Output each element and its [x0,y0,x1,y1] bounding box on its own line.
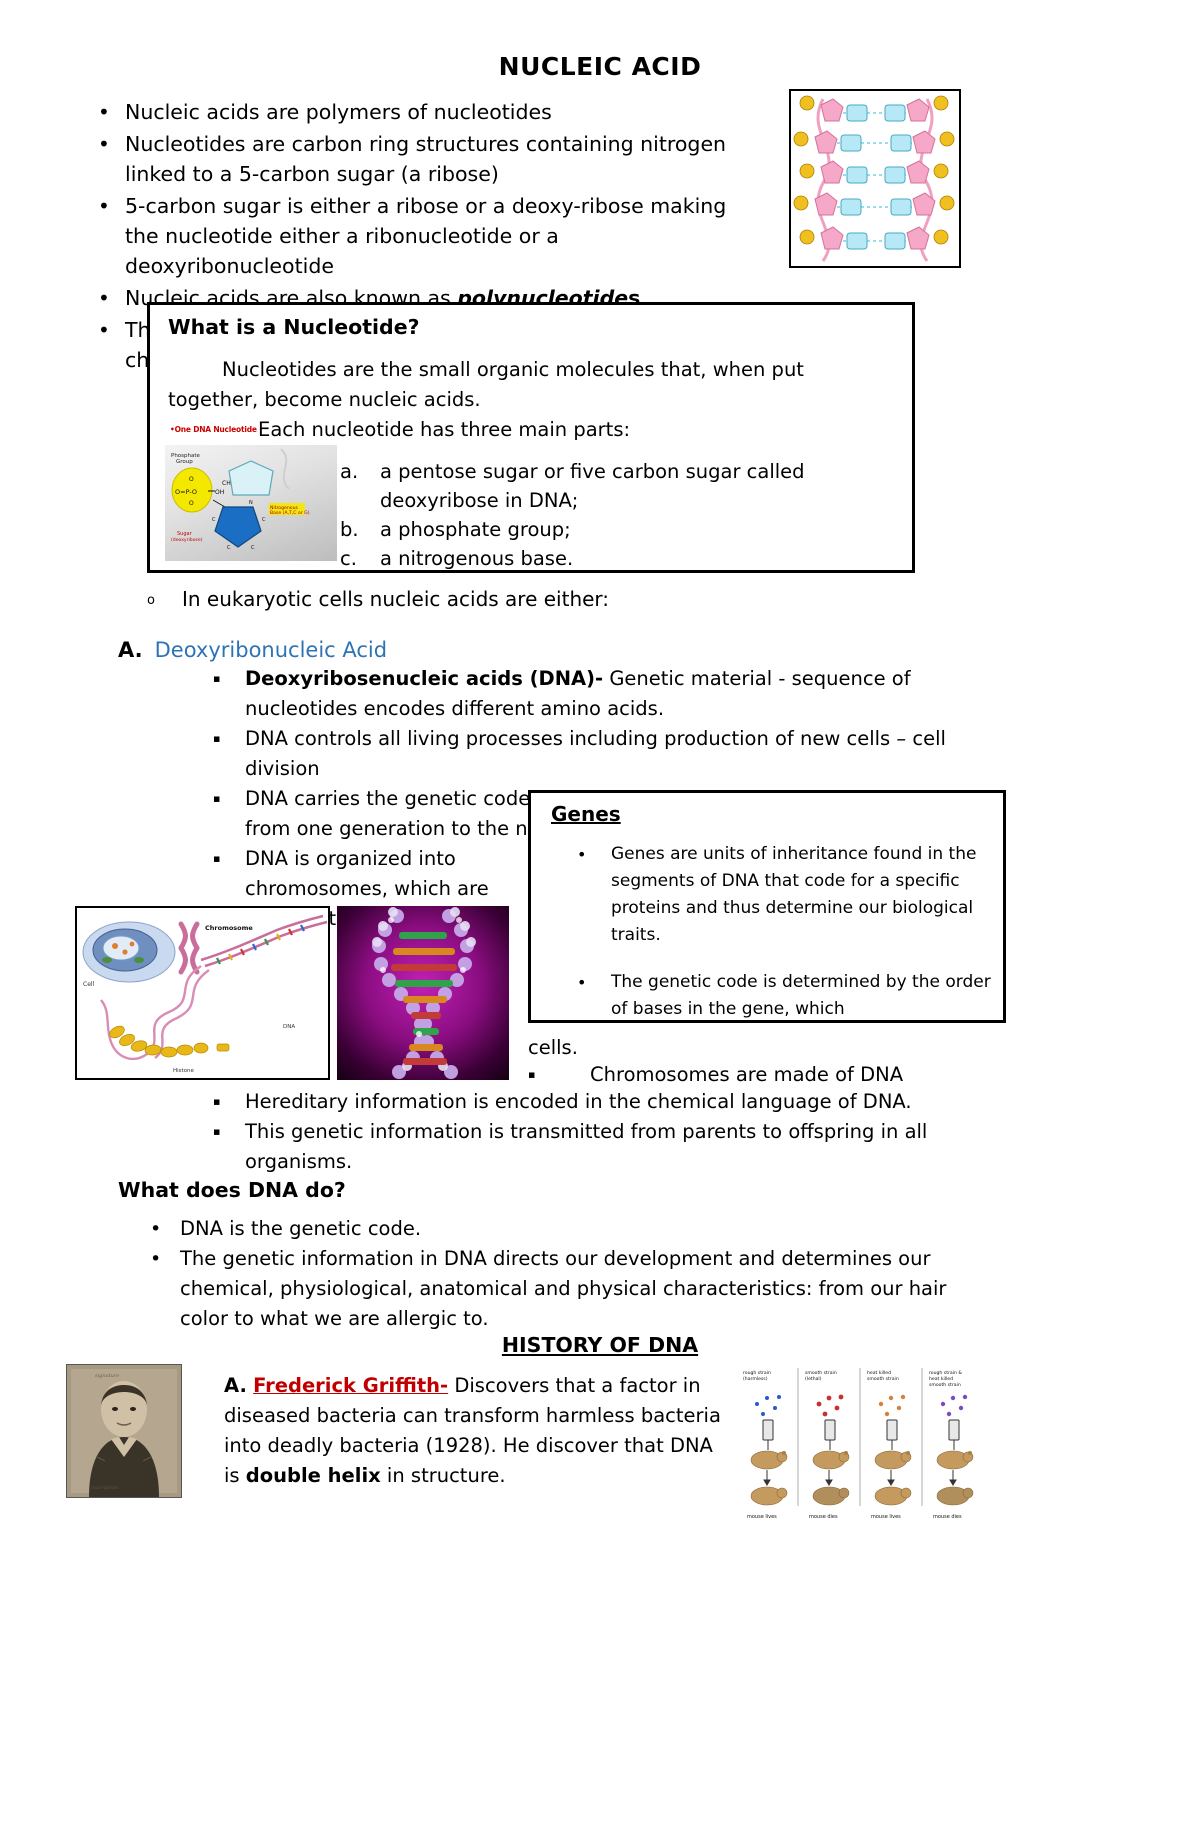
bullet-dot-icon: • [98,129,110,159]
nucleotide-paragraph-text: Nucleotides are the small organic molecu… [168,358,804,411]
svg-text:Cell: Cell [83,981,95,988]
square-bullet-icon: ▪ [528,1068,590,1081]
square-bullet-icon: ▪ [213,1117,220,1147]
nucleotide-box-title: What is a Nucleotide? [168,315,420,339]
svg-text:smooth strain: smooth strain [805,1370,837,1376]
svg-text:O: O [189,500,194,507]
dna-bullet-2: DNA controls all living processes includ… [245,727,946,780]
hereditary-bullet-2: This genetic information is transmitted … [245,1120,927,1173]
list-item: ▪ This genetic information is transmitte… [210,1117,1000,1177]
dna-ladder-svg [791,91,959,266]
what-does-dna-do-list: • DNA is the genetic code. • The genetic… [145,1214,975,1334]
square-bullet-icon: ▪ [213,844,220,874]
svg-text:C: C [262,517,266,523]
list-marker-b: b. [340,515,359,544]
eukaryotic-cells-text: In eukaryotic cells nucleic acids are ei… [182,587,609,611]
dna-bullet-1-bold: Deoxyribosenucleic acids (DNA)- [245,667,603,690]
svg-text:smooth strain: smooth strain [929,1382,961,1388]
nucleotide-part-a: a pentose sugar or five carbon sugar cal… [380,460,805,512]
bullet-dot-icon: • [150,1244,161,1274]
intro-bullet-2: Nucleotides are carbon ring structures c… [125,132,726,186]
svg-text:C: C [227,545,231,551]
svg-text:Chromosome: Chromosome [205,924,253,932]
frederick-griffith-portrait-image: signature inscription [66,1364,182,1498]
svg-text:rough strain: rough strain [743,1370,771,1376]
svg-text:signature: signature [95,1373,119,1379]
list-item: ▪ Hereditary information is encoded in t… [210,1087,1000,1117]
chromosome-diagram-image: Cell Chromosome [75,906,330,1080]
svg-text:C: C [251,545,255,551]
list-item: c. a nitrogenous base. [340,544,900,573]
svg-text:mouse lives: mouse lives [747,1514,777,1520]
svg-text:(deoxyribose): (deoxyribose) [171,537,203,543]
svg-text:N: N [249,500,253,506]
svg-text:O=P-O: O=P-O [175,488,197,496]
nucleotide-structure-image: Phosphate Group O O=P-O O OH CH2 O C C C… [165,445,337,561]
nucleotide-parts-list: a. a pentose sugar or five carbon sugar … [340,457,900,573]
chromosome-diagram-svg: Cell Chromosome [77,908,328,1078]
svg-text:C: C [212,517,216,523]
list-item: b. a phosphate group; [340,515,900,544]
hereditary-bullet-list: ▪ Hereditary information is encoded in t… [210,1087,1000,1177]
list-item: • The genetic information in DNA directs… [145,1244,975,1334]
griffith-portrait-svg: signature inscription [67,1365,181,1497]
cells-continuation-text: cells. [528,1036,578,1059]
history-of-dna-heading: HISTORY OF DNA [0,1333,1200,1357]
eukaryotic-cells-line: oIn eukaryotic cells nucleic acids are e… [147,587,609,611]
griffith-letter: A. [224,1374,247,1397]
nucleotide-definition-box: What is a Nucleotide? Nucleotides are th… [147,302,915,573]
section-a-letter: A. [118,638,143,662]
svg-text:inscription: inscription [91,1485,118,1491]
svg-text:(lethal): (lethal) [805,1376,822,1382]
list-item: • Nucleic acids are polymers of nucleoti… [85,97,765,127]
svg-text:Group: Group [176,459,193,465]
nucleotide-structure-svg: Phosphate Group O O=P-O O OH CH2 O C C C… [165,445,337,561]
bullet-dot-icon: • [577,841,586,868]
dna-helix-svg [337,906,509,1080]
dna-helix-image [337,906,509,1080]
svg-text:rough strain &: rough strain & [929,1370,962,1376]
section-a-heading: A.Deoxyribonucleic Acid [118,638,387,662]
circle-bullet-icon: o [147,593,182,608]
svg-text:(harmless): (harmless) [743,1376,768,1382]
bullet-dot-icon: • [577,969,586,996]
svg-text:Sugar: Sugar [177,531,193,537]
bullet-dot-icon: • [98,315,110,345]
hereditary-bullet-1: Hereditary information is encoded in the… [245,1090,912,1113]
list-marker-a: a. [340,457,358,486]
list-item: • Genes are units of inheritance found i… [573,841,993,949]
svg-text:heat killed: heat killed [929,1376,953,1382]
square-bullet-icon: ▪ [213,1087,220,1117]
svg-text:smooth strain: smooth strain [867,1376,899,1382]
griffith-name: Frederick Griffith- [253,1374,448,1397]
what-dna-bullet-2: The genetic information in DNA directs o… [180,1247,946,1330]
page-title: NUCLEIC ACID [0,52,1200,81]
nucleotide-box-paragraph: Nucleotides are the small organic molecu… [168,355,898,415]
what-does-dna-do-heading: What does DNA do? [118,1178,346,1202]
what-dna-bullet-1: DNA is the genetic code. [180,1217,421,1240]
svg-text:heat killed: heat killed [867,1370,891,1376]
griffith-description-post: in structure. [381,1464,506,1487]
list-item: • Nucleotides are carbon ring structures… [85,129,765,189]
bullet-dot-icon: • [150,1214,161,1244]
bullet-dot-icon: • [98,97,110,127]
intro-bullet-3: 5-carbon sugar is either a ribose or a d… [125,194,726,278]
nucleotide-part-b: a phosphate group; [380,518,571,541]
svg-text:mouse lives: mouse lives [871,1514,901,1520]
bullet-dot-icon: • [98,191,110,221]
griffith-description-bold: double helix [246,1464,381,1487]
list-item: a. a pentose sugar or five carbon sugar … [340,457,900,515]
svg-text:mouse dies: mouse dies [809,1514,838,1520]
list-item: ▪ Deoxyribosenucleic acids (DNA)- Geneti… [210,664,970,724]
genes-box-title: Genes [551,802,621,826]
griffith-experiment-image: rough strain(harmless) smooth strain(let… [737,1364,983,1524]
svg-text:O: O [189,476,194,483]
chromosomes-made-of-dna-line: ▪Chromosomes are made of DNA [528,1063,903,1086]
nucleotide-parts-intro: Each nucleotide has three main parts: [258,418,630,441]
list-item: ▪ DNA controls all living processes incl… [210,724,970,784]
list-item: • 5-carbon sugar is either a ribose or a… [85,191,765,281]
intro-bullet-1: Nucleic acids are polymers of nucleotide… [125,100,552,124]
genes-bullet-list: • Genes are units of inheritance found i… [573,841,993,1043]
list-item: • DNA is the genetic code. [145,1214,975,1244]
square-bullet-icon: ▪ [213,724,220,754]
bullet-dot-icon: • [98,283,110,313]
svg-text:mouse dies: mouse dies [933,1514,962,1520]
svg-text:DNA: DNA [283,1024,295,1030]
list-item: • The genetic code is determined by the … [573,969,993,1023]
genes-box: Genes • Genes are units of inheritance f… [528,790,1006,1023]
genes-bullet-2: The genetic code is determined by the or… [611,972,991,1019]
svg-text:OH: OH [215,489,224,496]
nucleotide-image-caption: •One DNA Nucleotide [170,425,257,434]
nucleotide-part-c: a nitrogenous base. [380,547,573,570]
section-a-title: Deoxyribonucleic Acid [155,638,387,662]
svg-text:Base (A,T,C or G): Base (A,T,C or G) [270,510,310,516]
svg-text:Histone: Histone [173,1068,195,1074]
history-heading-text: HISTORY OF DNA [502,1333,698,1357]
square-bullet-icon: ▪ [213,664,220,694]
griffith-experiment-svg: rough strain(harmless) smooth strain(let… [737,1364,983,1524]
griffith-entry: A. Frederick Griffith- Discovers that a … [224,1371,724,1491]
square-bullet-icon: ▪ [213,784,220,814]
dna-ladder-image [789,89,961,268]
chromosomes-text: Chromosomes are made of DNA [590,1063,903,1086]
document-page: NUCLEIC ACID [0,0,1200,1835]
list-marker-c: c. [340,544,357,573]
genes-bullet-1: Genes are units of inheritance found in … [611,844,976,945]
